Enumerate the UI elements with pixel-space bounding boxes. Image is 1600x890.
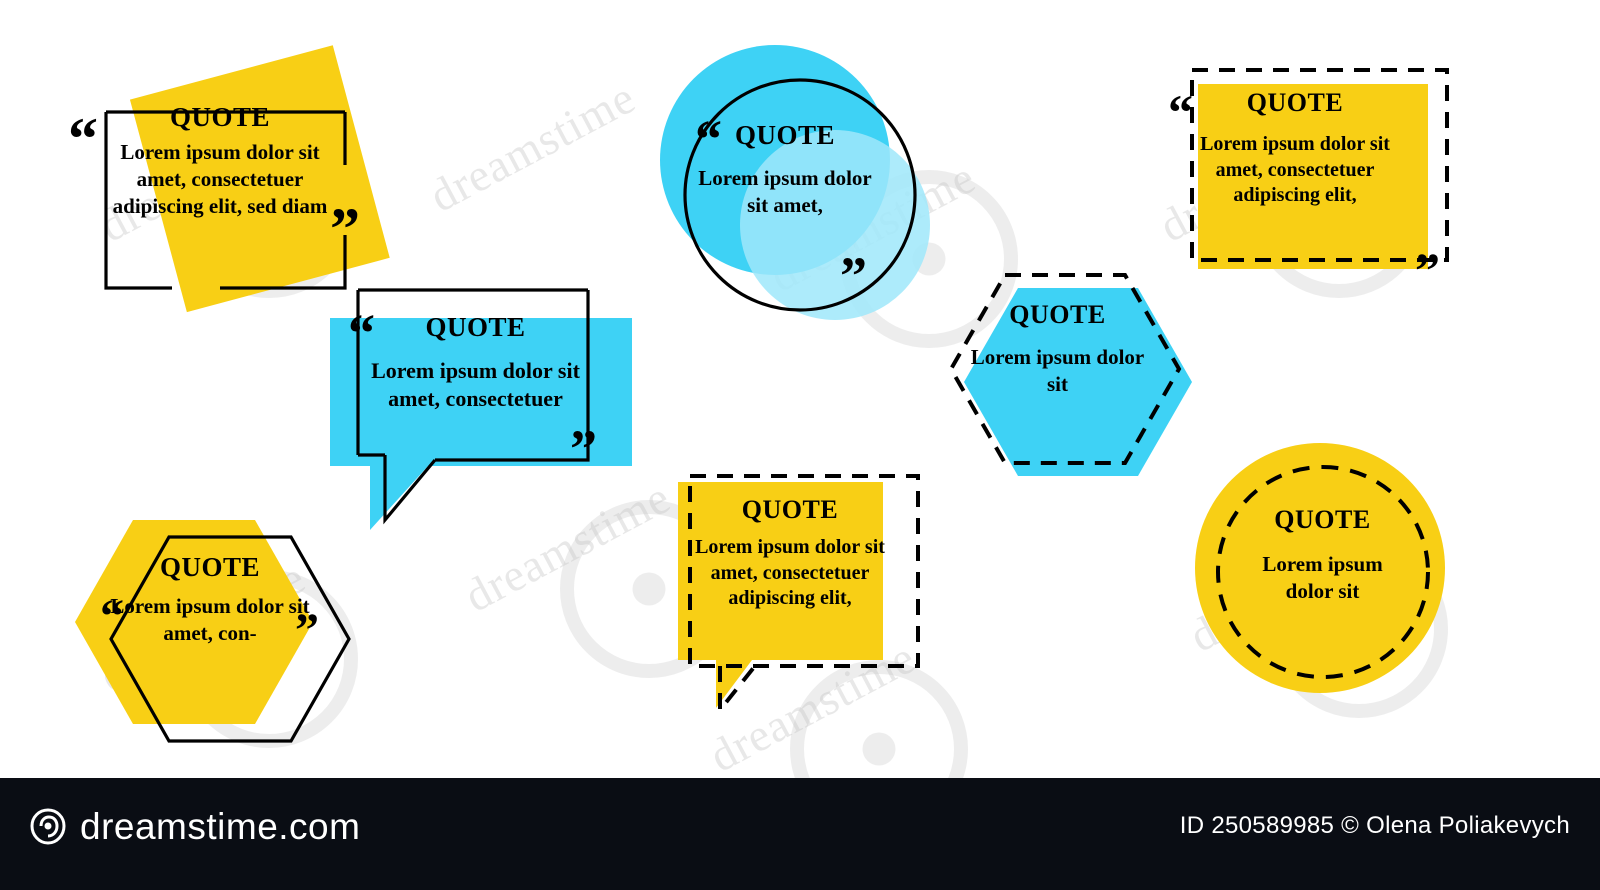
quote-text-yellow-dashed-circle: QUOTE Lorem ipsum dolor sit <box>1245 505 1400 605</box>
quote-body: Lorem ipsum dolor sit amet, consectetuer… <box>1195 132 1395 209</box>
footer-logo-text: dreamstime.com <box>80 806 360 848</box>
quote-text-yellow-dashed-square: QUOTE Lorem ipsum dolor sit amet, consec… <box>1195 88 1395 209</box>
quote-title: QUOTE <box>970 300 1145 330</box>
close-quote-mark: ” <box>840 255 867 298</box>
quote-text-cyan-dashed-hexagon: QUOTE Lorem ipsum dolor sit <box>970 300 1145 398</box>
open-quote-mark: “ <box>1168 92 1193 132</box>
close-quote-mark: ” <box>570 428 597 471</box>
quote-text-yellow-hexagon: QUOTE Lorem ipsum dolor sit amet, con- <box>95 552 325 647</box>
quote-title: QUOTE <box>1245 505 1400 535</box>
quote-body: Lorem ipsum dolor sit amet, consectetuer… <box>690 535 890 612</box>
quote-text-cyan-circle-blob: QUOTE Lorem ipsum dolor sit amet, <box>690 120 880 219</box>
quote-body: Lorem ipsum dolor sit <box>970 344 1145 398</box>
quote-body: Lorem ipsum dolor sit <box>1245 551 1400 605</box>
quote-body: Lorem ipsum dolor sit amet, <box>690 165 880 219</box>
illustration-canvas: dreamstime dreamstime dreamstime dreamst… <box>0 0 1600 890</box>
quote-text-yellow-rotated-square: QUOTE Lorem ipsum dolor sit amet, consec… <box>110 102 330 220</box>
quote-title: QUOTE <box>1195 88 1395 118</box>
watermark-text: dreamstime <box>421 70 644 222</box>
footer-credit: ID 250589985 © Olena Poliakevych <box>1180 812 1570 840</box>
close-quote-mark: ” <box>330 205 360 253</box>
quote-body: Lorem ipsum dolor sit amet, con- <box>95 593 325 647</box>
quote-title: QUOTE <box>368 312 583 343</box>
quote-title: QUOTE <box>95 552 325 583</box>
quote-title: QUOTE <box>690 120 880 151</box>
open-quote-mark: “ <box>68 115 98 163</box>
quote-body: Lorem ipsum dolor sit amet, consectetuer… <box>110 139 330 220</box>
dreamstime-logo-icon <box>28 807 68 847</box>
quote-text-cyan-speech-bubble: QUOTE Lorem ipsum dolor sit amet, consec… <box>368 312 583 413</box>
quote-title: QUOTE <box>110 102 330 133</box>
quote-text-yellow-dashed-bubble: QUOTE Lorem ipsum dolor sit amet, consec… <box>690 495 890 612</box>
quote-body: Lorem ipsum dolor sit amet, consectetuer <box>368 357 583 413</box>
close-quote-mark: ” <box>1415 250 1440 290</box>
footer-logo: dreamstime.com <box>28 806 360 848</box>
quote-title: QUOTE <box>690 495 890 525</box>
